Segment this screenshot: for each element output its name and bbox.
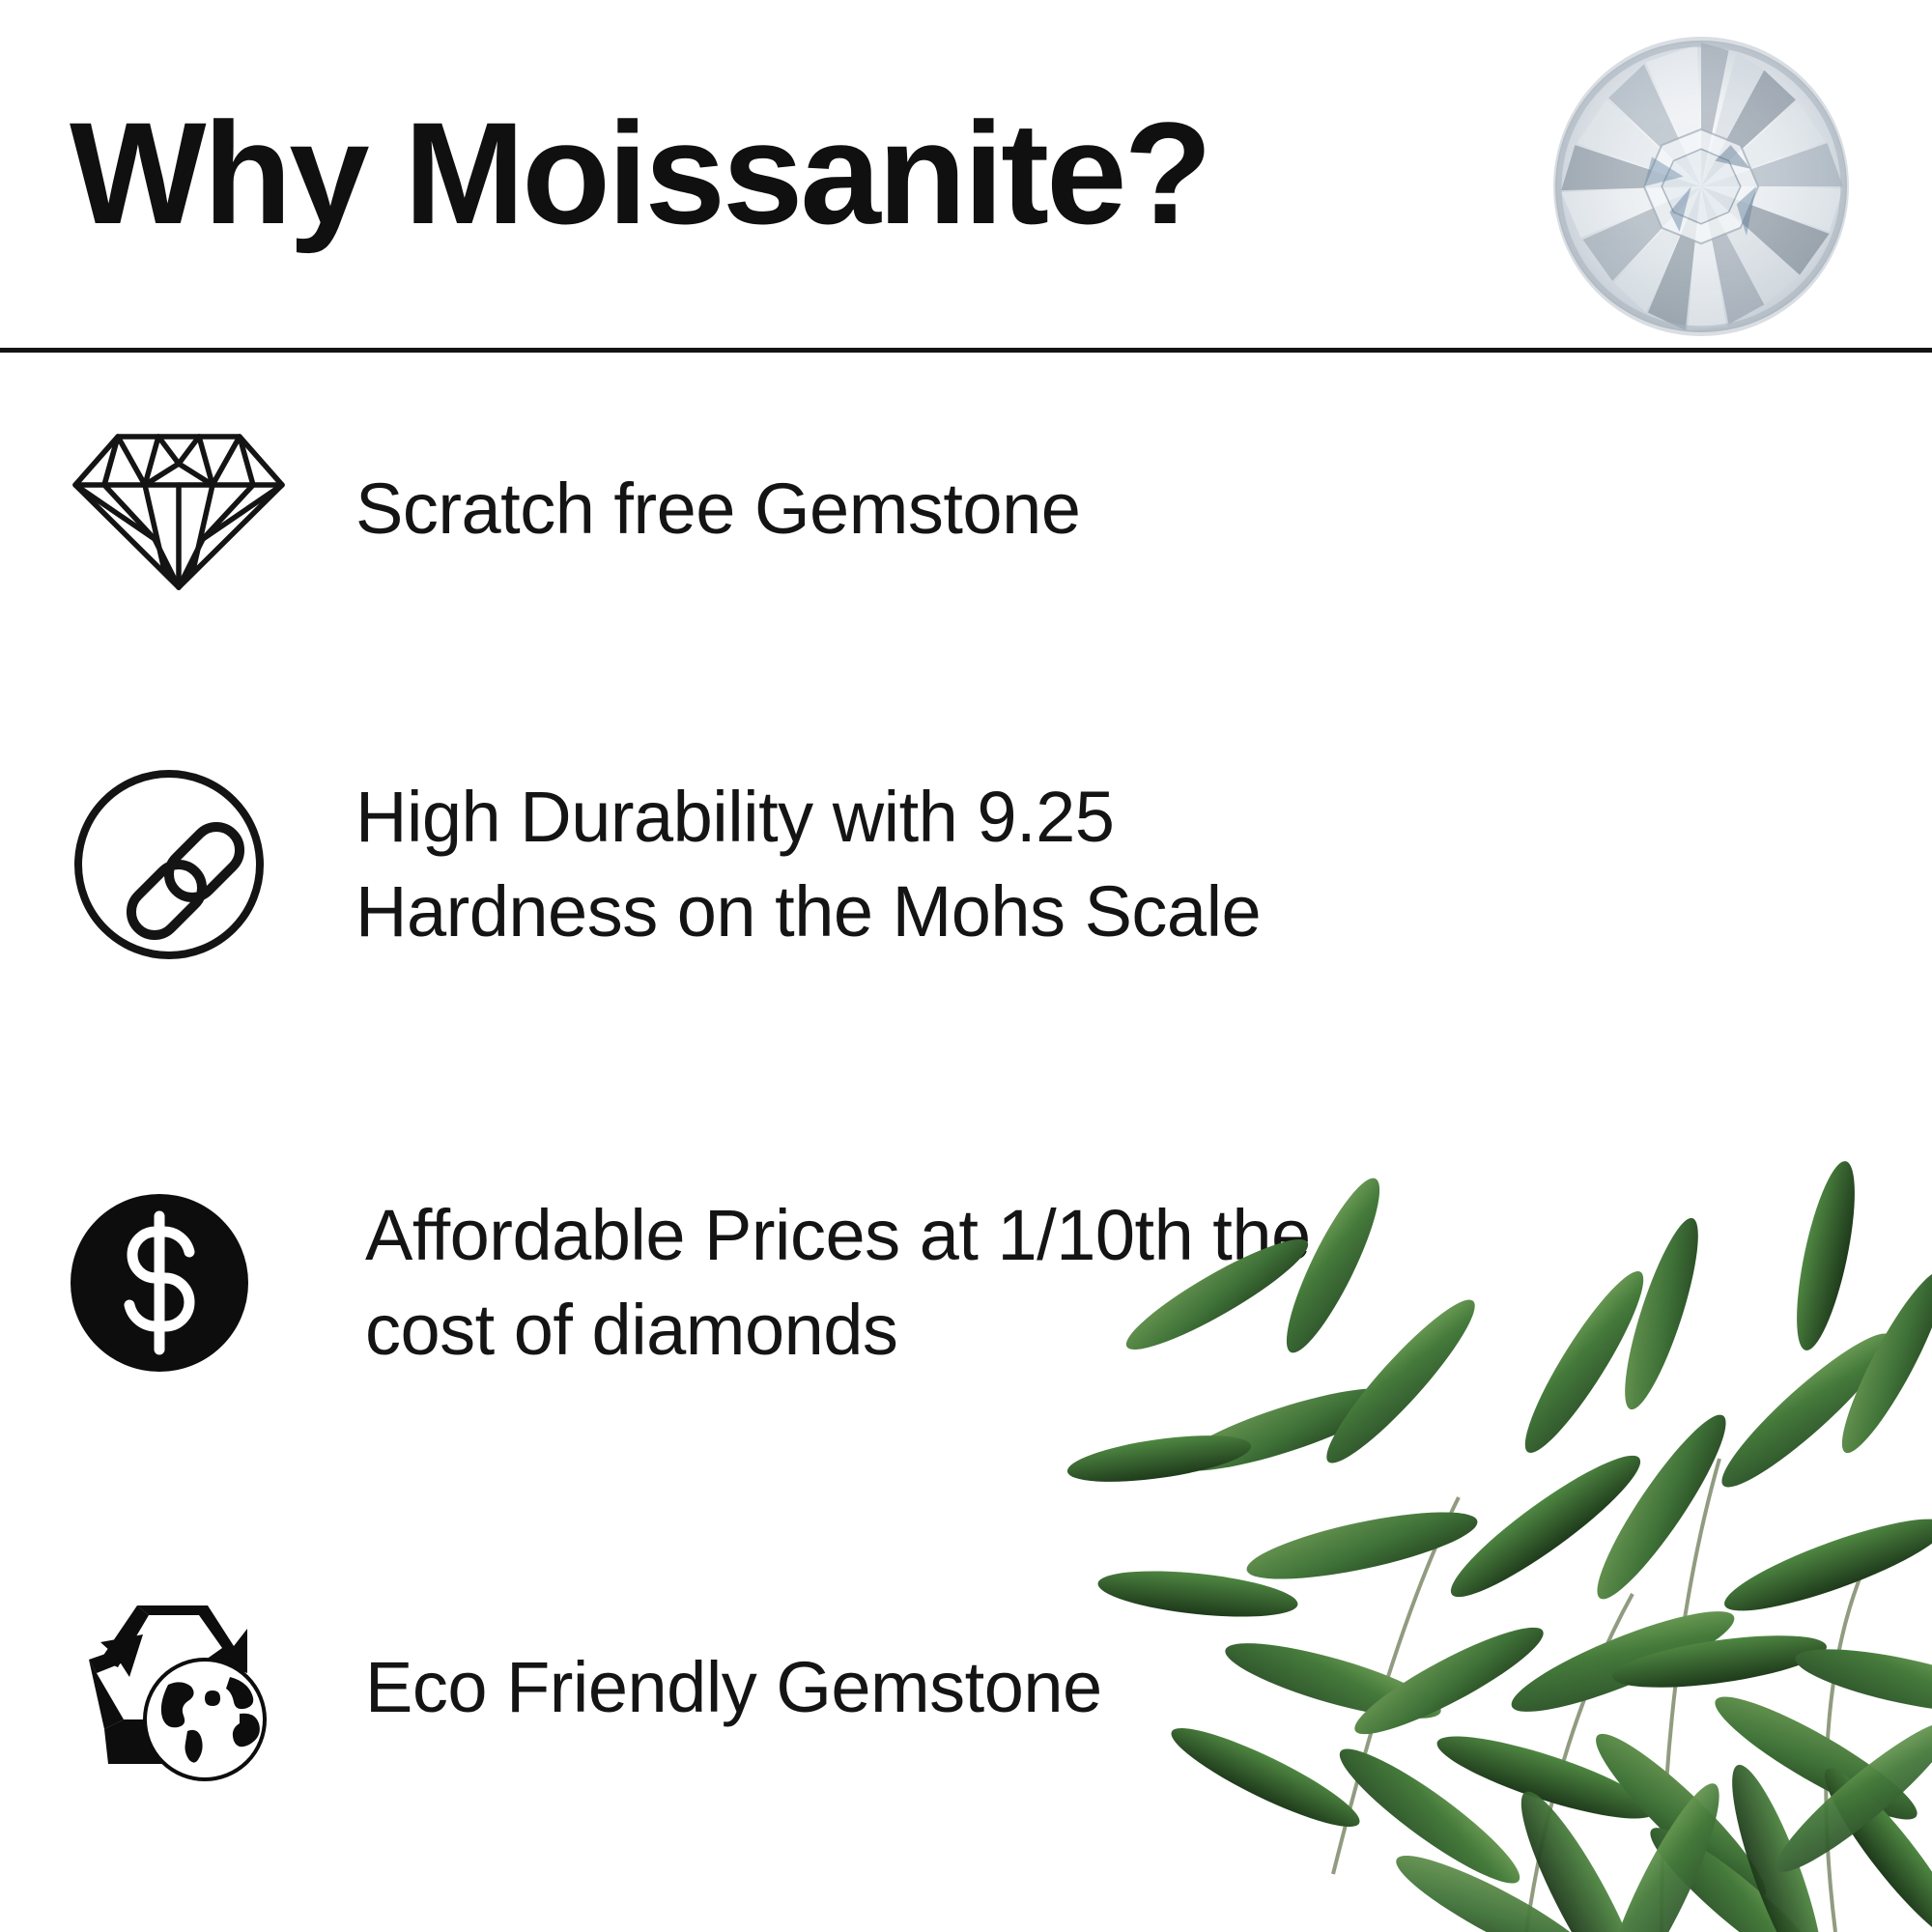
benefit-icon-slot (68, 1584, 328, 1792)
benefit-label: Eco Friendly Gemstone (365, 1640, 1102, 1735)
benefit-row-eco-friendly: Eco Friendly Gemstone (68, 1584, 1102, 1792)
page-title: Why Moissanite? (70, 100, 1209, 245)
diamond-outline-icon (68, 425, 290, 594)
infographic-page: Why Moissanite? (0, 0, 1932, 1932)
benefit-row-scratch-free: Scratch free Gemstone (68, 425, 1080, 594)
dollar-coin-icon (68, 1191, 251, 1375)
benefit-row-affordable: Affordable Prices at 1/10th the cost of … (68, 1188, 1311, 1378)
header: Why Moissanite? (0, 0, 1932, 352)
benefit-label: Affordable Prices at 1/10th the cost of … (365, 1188, 1311, 1378)
benefit-label: Scratch free Gemstone (355, 462, 1080, 556)
benefit-icon-slot (68, 763, 328, 966)
benefit-icon-slot (68, 1191, 328, 1375)
benefit-row-durability: High Durability with 9.25 Hardness on th… (68, 763, 1261, 966)
benefit-label: High Durability with 9.25 Hardness on th… (355, 770, 1261, 960)
recycle-globe-icon (68, 1584, 275, 1792)
chain-link-circle-icon (68, 763, 270, 966)
moissanite-gemstone-photo (1553, 37, 1849, 336)
header-divider (0, 348, 1932, 353)
benefit-icon-slot (68, 425, 328, 594)
